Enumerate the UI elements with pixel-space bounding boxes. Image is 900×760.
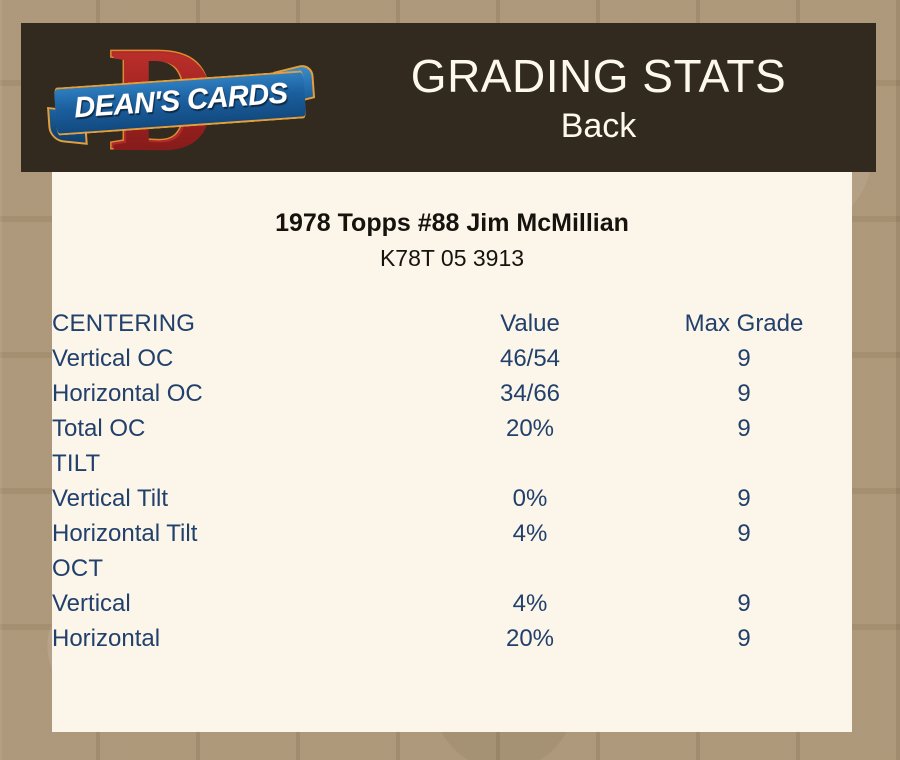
page-title: GRADING STATS — [411, 50, 786, 102]
logo-ribbon-banner: DEAN'S CARDS — [45, 64, 314, 140]
row-max-grade: 9 — [636, 376, 852, 411]
row-value: 46/54 — [424, 341, 636, 376]
section-header-row: OCT — [52, 551, 852, 586]
row-label: Total OC — [52, 411, 424, 446]
row-max-grade: 9 — [636, 411, 852, 446]
section-label-oct: OCT — [52, 551, 424, 586]
section-spacer-value — [424, 551, 636, 586]
table-row: Total OC20%9 — [52, 411, 852, 446]
row-max-grade: 9 — [636, 516, 852, 551]
row-value: 4% — [424, 586, 636, 621]
table-row: Vertical OC46/549 — [52, 341, 852, 376]
row-value: 20% — [424, 411, 636, 446]
section-header-row: TILT — [52, 446, 852, 481]
content-panel: 1978 Topps #88 Jim McMillian K78T 05 391… — [52, 172, 852, 732]
row-max-grade: 9 — [636, 586, 852, 621]
section-spacer-value — [424, 446, 636, 481]
deans-cards-logo[interactable]: D D DEAN'S CARDS — [47, 27, 317, 169]
row-label: Horizontal OC — [52, 376, 424, 411]
table-row: Vertical Tilt0%9 — [52, 481, 852, 516]
card-title: 1978 Topps #88 Jim McMillian — [52, 208, 852, 238]
row-label: Vertical — [52, 586, 424, 621]
section-spacer-grade — [636, 446, 852, 481]
row-value: 4% — [424, 516, 636, 551]
header-bar: D D DEAN'S CARDS GRADING STATS Back — [21, 23, 876, 172]
column-header-max-grade: Max Grade — [636, 306, 852, 341]
section-spacer-grade — [636, 551, 852, 586]
column-header-value: Value — [424, 306, 636, 341]
table-row: Vertical4%9 — [52, 586, 852, 621]
table-header-row: CENTERING Value Max Grade — [52, 306, 852, 341]
table-row: Horizontal Tilt4%9 — [52, 516, 852, 551]
header-title-group: GRADING STATS Back — [321, 23, 876, 172]
row-value: 0% — [424, 481, 636, 516]
row-value: 20% — [424, 621, 636, 656]
table-row: Horizontal20%9 — [52, 621, 852, 656]
row-max-grade: 9 — [636, 341, 852, 376]
grading-stats-table: CENTERING Value Max Grade Vertical OC46/… — [52, 306, 852, 656]
row-max-grade: 9 — [636, 621, 852, 656]
table-row: Horizontal OC34/669 — [52, 376, 852, 411]
row-label: Vertical OC — [52, 341, 424, 376]
card-id: K78T 05 3913 — [52, 244, 852, 272]
section-label-tilt: TILT — [52, 446, 424, 481]
row-value: 34/66 — [424, 376, 636, 411]
column-header-centering: CENTERING — [52, 306, 424, 341]
table-body: Vertical OC46/549Horizontal OC34/669Tota… — [52, 341, 852, 656]
page-subtitle: Back — [561, 106, 637, 146]
table-header: CENTERING Value Max Grade — [52, 306, 852, 341]
row-label: Horizontal — [52, 621, 424, 656]
row-label: Vertical Tilt — [52, 481, 424, 516]
row-label: Horizontal Tilt — [52, 516, 424, 551]
row-max-grade: 9 — [636, 481, 852, 516]
